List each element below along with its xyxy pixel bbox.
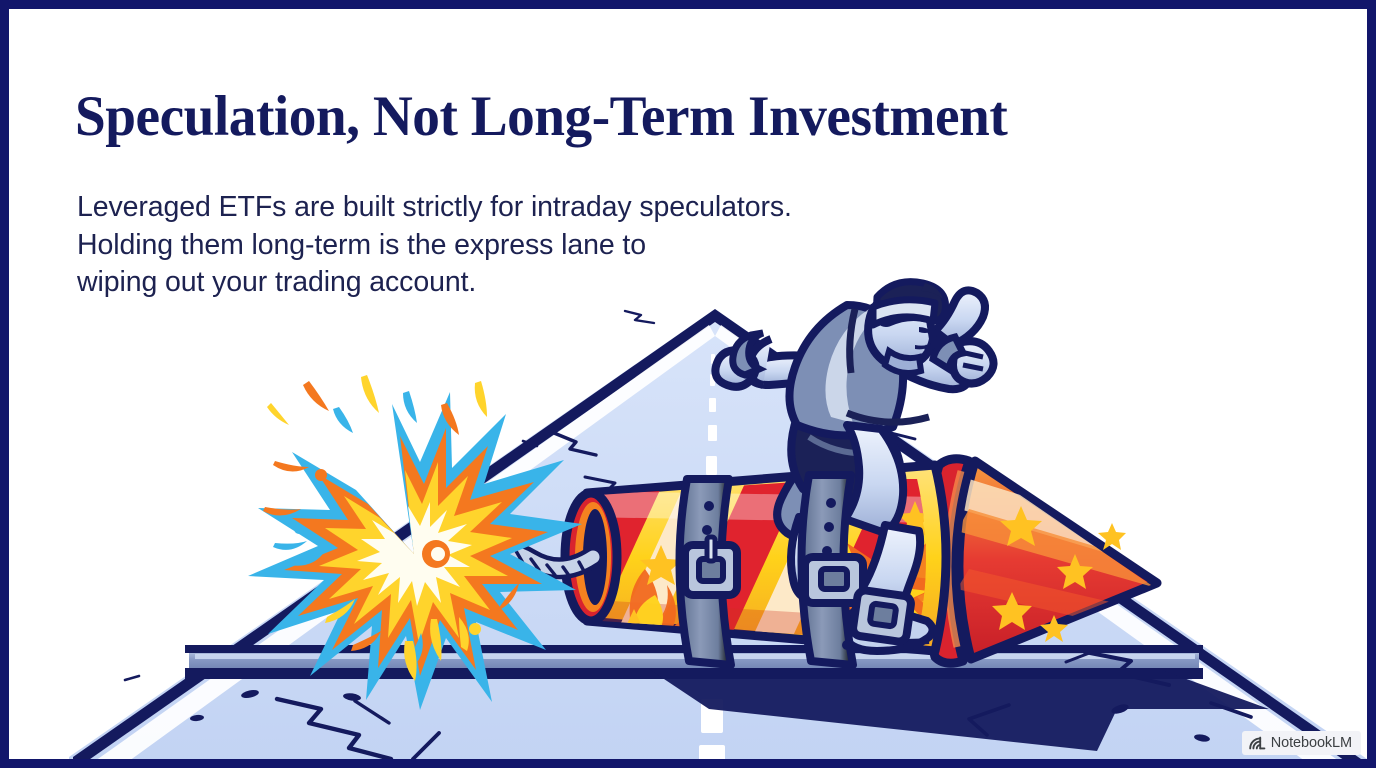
slide-canvas: Speculation, Not Long-Term Investment Le…	[9, 9, 1367, 759]
subtitle-line-1: Leveraged ETFs are built strictly for in…	[77, 189, 792, 227]
page-title: Speculation, Not Long-Term Investment	[75, 87, 1007, 146]
rocket-strap-left	[679, 479, 737, 665]
page-subtitle: Leveraged ETFs are built strictly for in…	[77, 189, 792, 302]
notebooklm-spiral-icon	[1249, 736, 1266, 750]
subtitle-line-3: wiping out your trading account.	[77, 264, 792, 302]
notebooklm-label: NotebookLM	[1271, 735, 1352, 751]
subtitle-line-2: Holding them long-term is the express la…	[77, 227, 792, 265]
slide-frame: Speculation, Not Long-Term Investment Le…	[0, 0, 1376, 768]
notebooklm-watermark: NotebookLM	[1242, 731, 1361, 755]
